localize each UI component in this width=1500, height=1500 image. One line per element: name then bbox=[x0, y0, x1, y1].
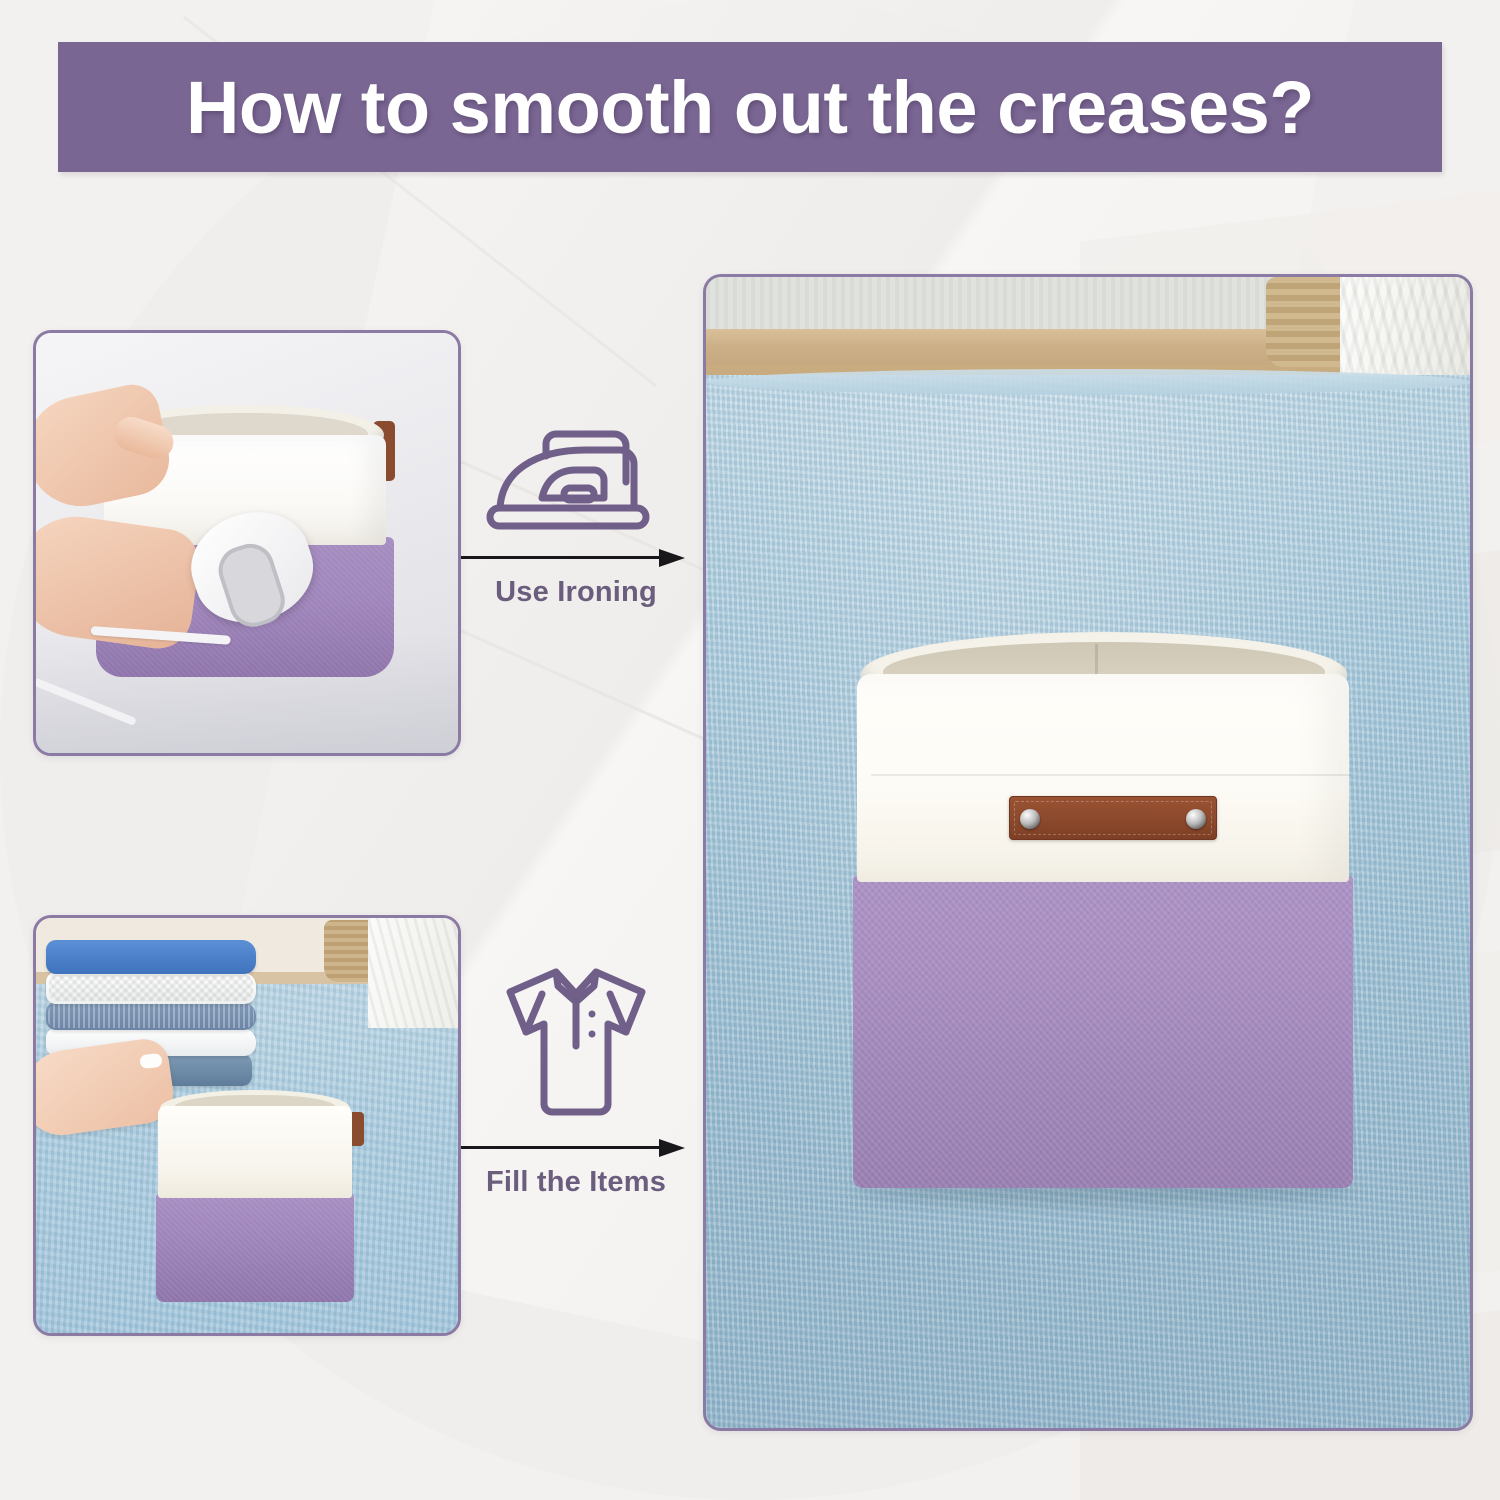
step-label-filling: Fill the Items bbox=[461, 1166, 691, 1199]
infographic-root: How to smooth out the creases? bbox=[0, 0, 1500, 1500]
basket-purple-body bbox=[156, 1194, 354, 1302]
page-title: How to smooth out the creases? bbox=[186, 65, 1314, 150]
main-product-photo bbox=[703, 274, 1473, 1431]
clothes-iron-icon bbox=[461, 412, 691, 540]
step-ironing: Use Ironing bbox=[461, 412, 691, 609]
basket-seam bbox=[871, 774, 1351, 776]
handle-rivet-right bbox=[1186, 809, 1206, 829]
step-arrow bbox=[461, 546, 691, 568]
basket-white-band bbox=[857, 674, 1349, 882]
basket-white-band bbox=[158, 1106, 352, 1198]
basket-purple-body bbox=[853, 876, 1353, 1188]
arrow-line bbox=[461, 1146, 665, 1149]
photo-filling-basket bbox=[36, 918, 458, 1333]
folded-item-striped bbox=[46, 1002, 256, 1030]
storage-basket bbox=[152, 1090, 358, 1305]
folded-item-white-1 bbox=[46, 972, 256, 1004]
handle-rivet-left bbox=[1020, 809, 1040, 829]
storage-basket bbox=[849, 632, 1357, 1192]
polo-shirt-icon bbox=[461, 960, 691, 1130]
rug-edge bbox=[706, 369, 1470, 395]
folded-item-blue bbox=[46, 940, 256, 974]
leather-handle bbox=[1009, 796, 1217, 840]
photo-basket-on-rug bbox=[706, 277, 1470, 1428]
arrow-line bbox=[461, 556, 665, 559]
arrow-head bbox=[659, 1139, 685, 1157]
header-banner: How to smooth out the creases? bbox=[58, 42, 1442, 172]
arrow-head bbox=[659, 549, 685, 567]
step-photo-filling bbox=[33, 915, 461, 1336]
step-arrow bbox=[461, 1136, 691, 1158]
white-curtain bbox=[368, 918, 458, 1028]
photo-ironing-basket bbox=[36, 333, 458, 753]
step-filling: Fill the Items bbox=[461, 960, 691, 1199]
step-label-ironing: Use Ironing bbox=[461, 576, 691, 609]
step-photo-ironing bbox=[33, 330, 461, 756]
